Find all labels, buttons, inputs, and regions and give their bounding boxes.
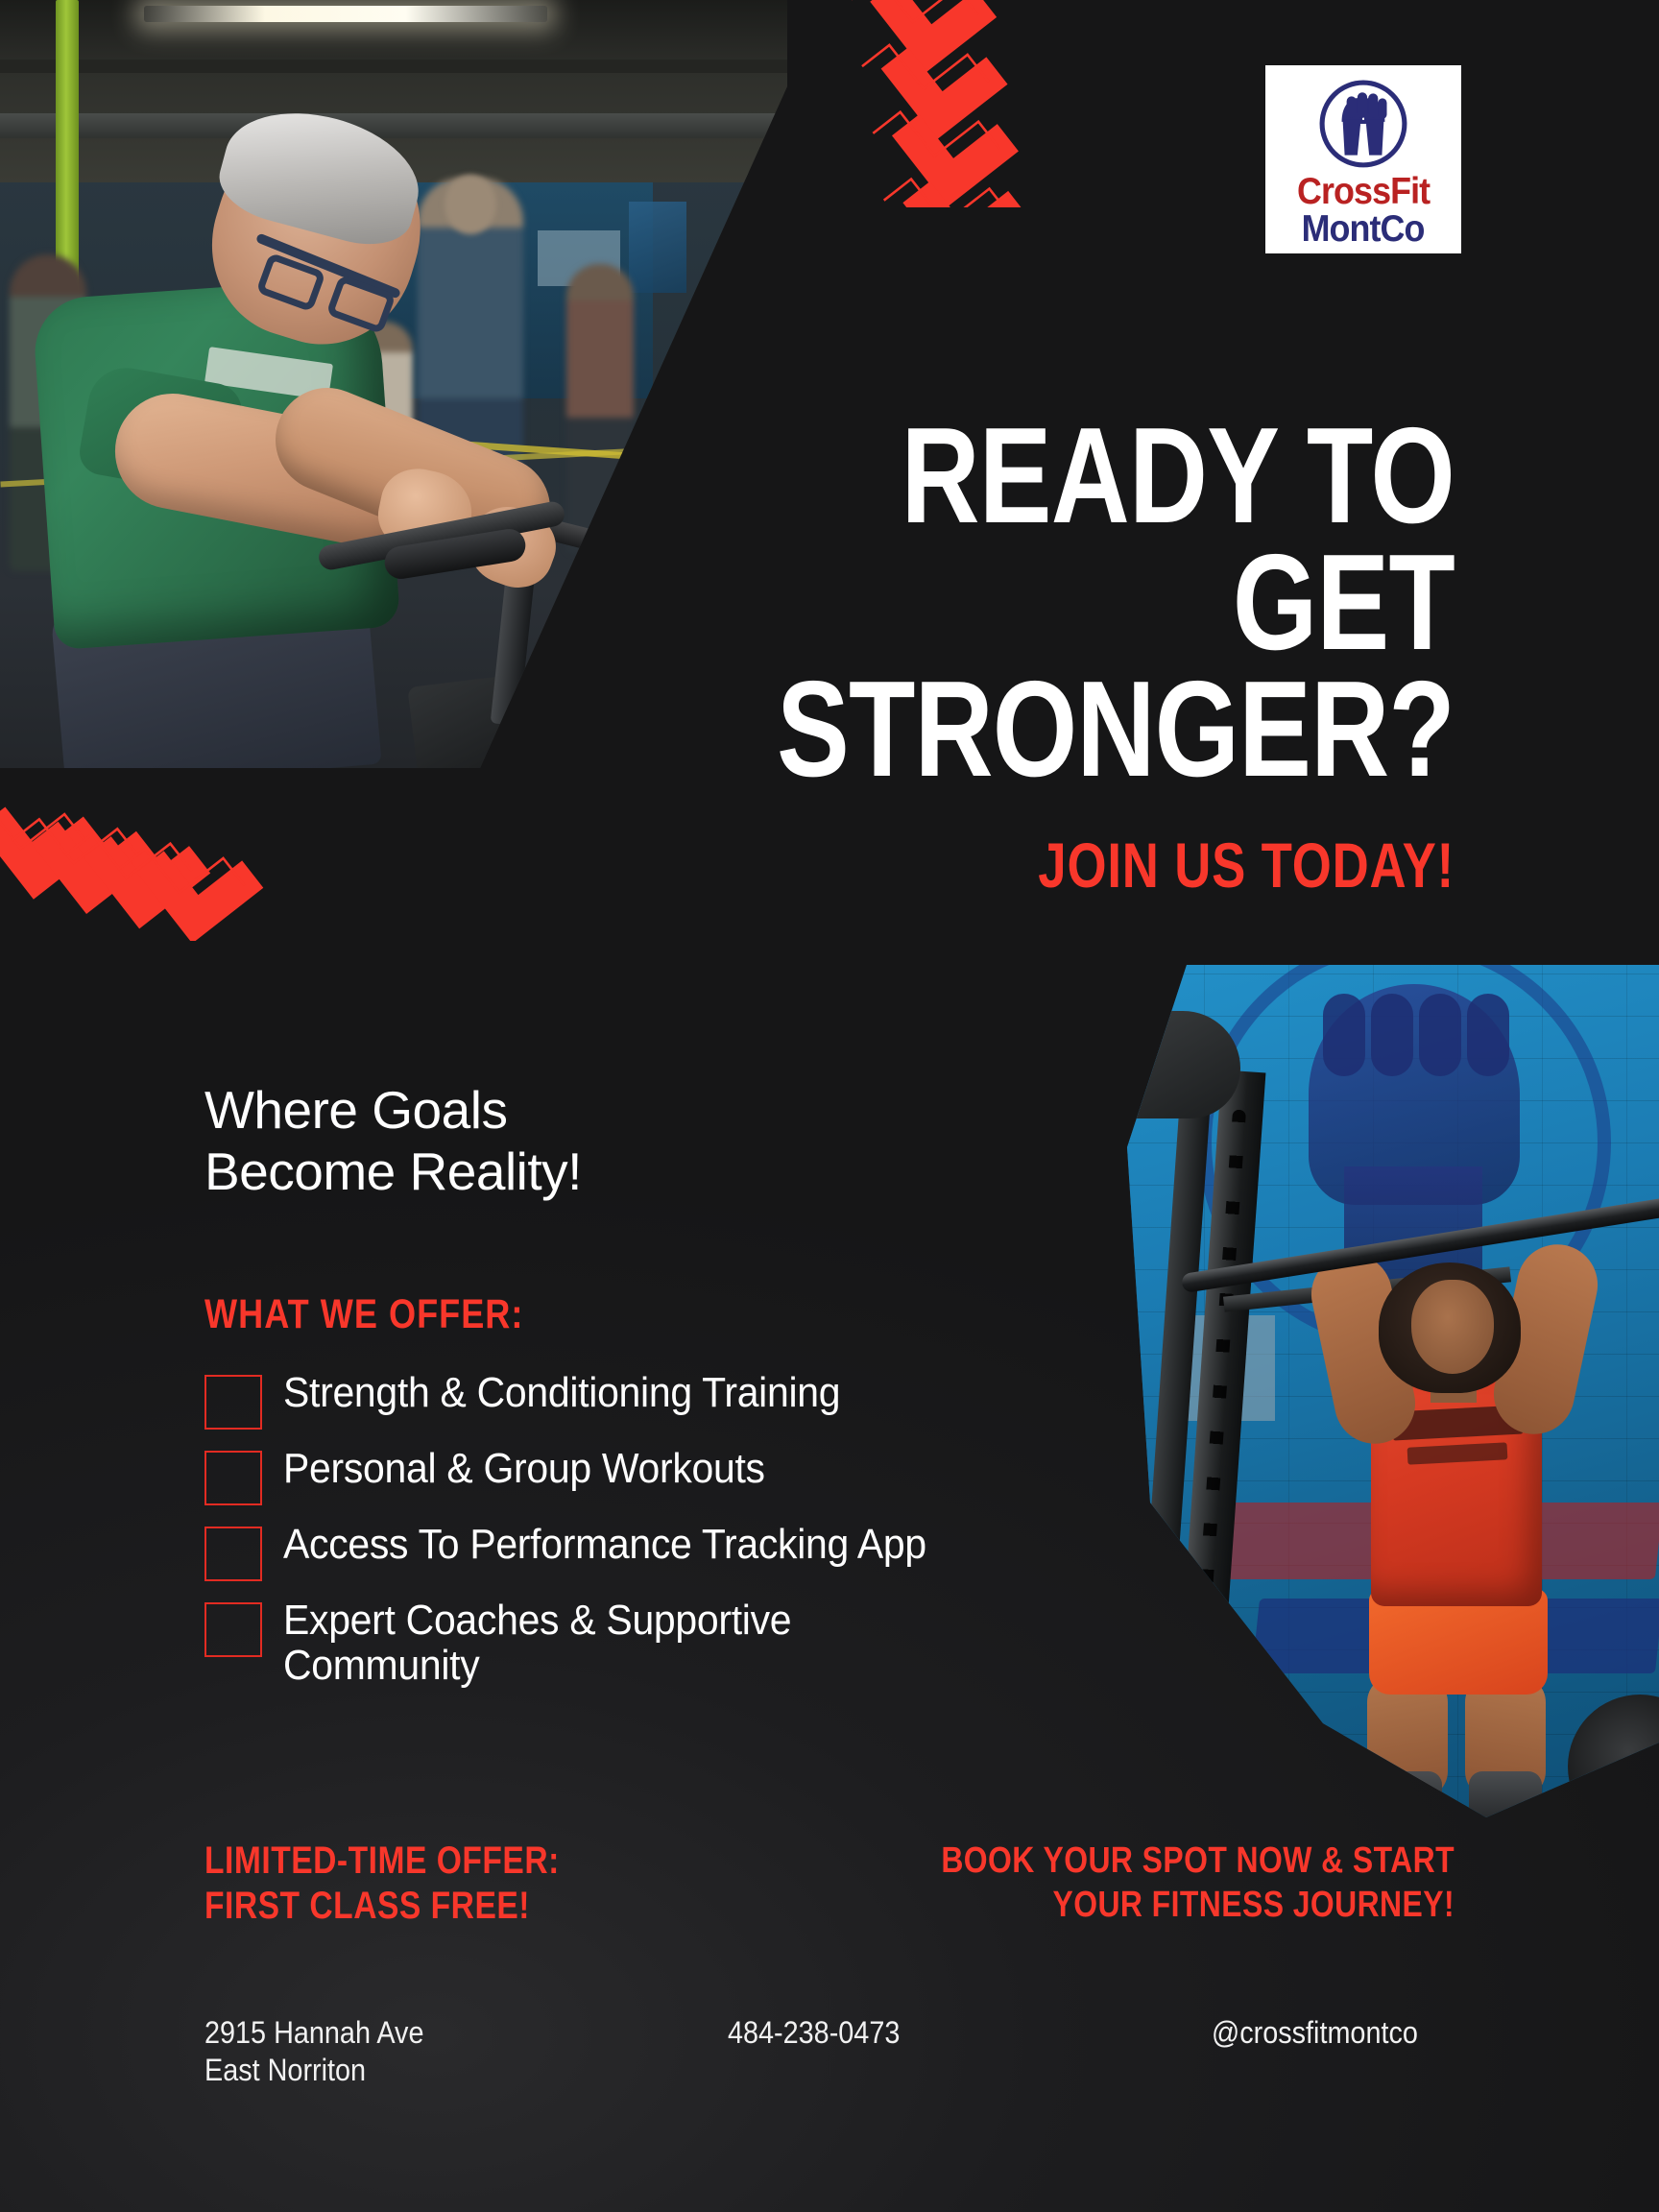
list-item[interactable]: Personal & Group Workouts — [204, 1447, 1107, 1505]
mural-knuckle-4 — [1467, 994, 1509, 1076]
headline-line-2: STRONGER? — [763, 666, 1455, 793]
headline-line-1: READY TO GET — [902, 399, 1455, 679]
cta-text: BOOK YOUR SPOT NOW & START YOUR FITNESS … — [938, 1839, 1455, 1928]
checkbox-icon[interactable] — [204, 1527, 262, 1581]
gym-scene — [0, 0, 787, 768]
athlete-overhead-press-photo — [1035, 965, 1659, 1819]
offer-item-label: Personal & Group Workouts — [283, 1447, 765, 1492]
offer-item-label: Expert Coaches & Supportive Community — [283, 1599, 837, 1688]
offer-item-label: Strength & Conditioning Training — [283, 1371, 840, 1416]
address-line-1: 2915 Hannah Ave — [204, 2015, 423, 2050]
contact-phone[interactable]: 484-238-0473 — [728, 2014, 900, 2052]
cta-line-2: YOUR FITNESS JOURNEY! — [938, 1883, 1455, 1927]
member-on-assault-bike-photo — [0, 0, 787, 768]
logo-crossfit-text: CrossFit — [1297, 173, 1430, 210]
athlete-face — [1411, 1280, 1494, 1374]
arrow-chevron-cluster-top — [845, 0, 1066, 207]
mural-knuckle-1 — [1323, 994, 1365, 1076]
tagline-line-2: Become Reality! — [204, 1142, 582, 1203]
rack-top-plate — [1096, 1011, 1240, 1118]
contact-social-handle[interactable]: @crossfitmontco — [1212, 2014, 1418, 2052]
address-line-2: East Norriton — [204, 2052, 423, 2089]
offer-item-label: Access To Performance Tracking App — [283, 1523, 926, 1568]
limited-offer-line-2: FIRST CLASS FREE! — [204, 1884, 560, 1929]
logo-montco-text: MontCo — [1302, 210, 1425, 250]
tagline: Where Goals Become Reality! — [204, 1080, 582, 1203]
mural-knuckle-2 — [1371, 994, 1413, 1076]
athlete-right-knee-sleeve — [1469, 1771, 1542, 1819]
list-item[interactable]: Expert Coaches & Supportive Community — [204, 1599, 1107, 1688]
limited-time-offer: LIMITED-TIME OFFER: FIRST CLASS FREE! — [204, 1839, 560, 1929]
cta-line-1: BOOK YOUR SPOT NOW & START — [941, 1840, 1455, 1881]
flyer-canvas: CrossFit MontCo READY TO GET STRONGER? J… — [0, 0, 1659, 2212]
raised-fist-icon — [1313, 79, 1413, 171]
athlete-left-knee-sleeve — [1369, 1771, 1442, 1819]
checkbox-icon[interactable] — [204, 1602, 262, 1657]
list-item[interactable]: Access To Performance Tracking App — [204, 1523, 1107, 1581]
offer-list: Strength & Conditioning Training Persona… — [204, 1371, 1107, 1705]
checkbox-icon[interactable] — [204, 1375, 262, 1430]
contact-address: 2915 Hannah Ave East Norriton — [204, 2014, 423, 2089]
page-title: READY TO GET STRONGER? — [763, 413, 1455, 793]
checkbox-icon[interactable] — [204, 1451, 262, 1505]
list-item[interactable]: Strength & Conditioning Training — [204, 1371, 1107, 1430]
arrow-chevron-cluster-left — [0, 730, 269, 941]
limited-offer-line-1: LIMITED-TIME OFFER: — [204, 1839, 560, 1882]
mural-knuckle-3 — [1419, 994, 1461, 1076]
join-us-subheadline: JOIN US TODAY! — [871, 833, 1455, 897]
tagline-line-1: Where Goals — [204, 1080, 507, 1140]
crossfit-montco-logo[interactable]: CrossFit MontCo — [1265, 65, 1461, 253]
what-we-offer-heading: WHAT WE OFFER: — [204, 1291, 523, 1338]
gym-member-figure — [0, 0, 787, 768]
